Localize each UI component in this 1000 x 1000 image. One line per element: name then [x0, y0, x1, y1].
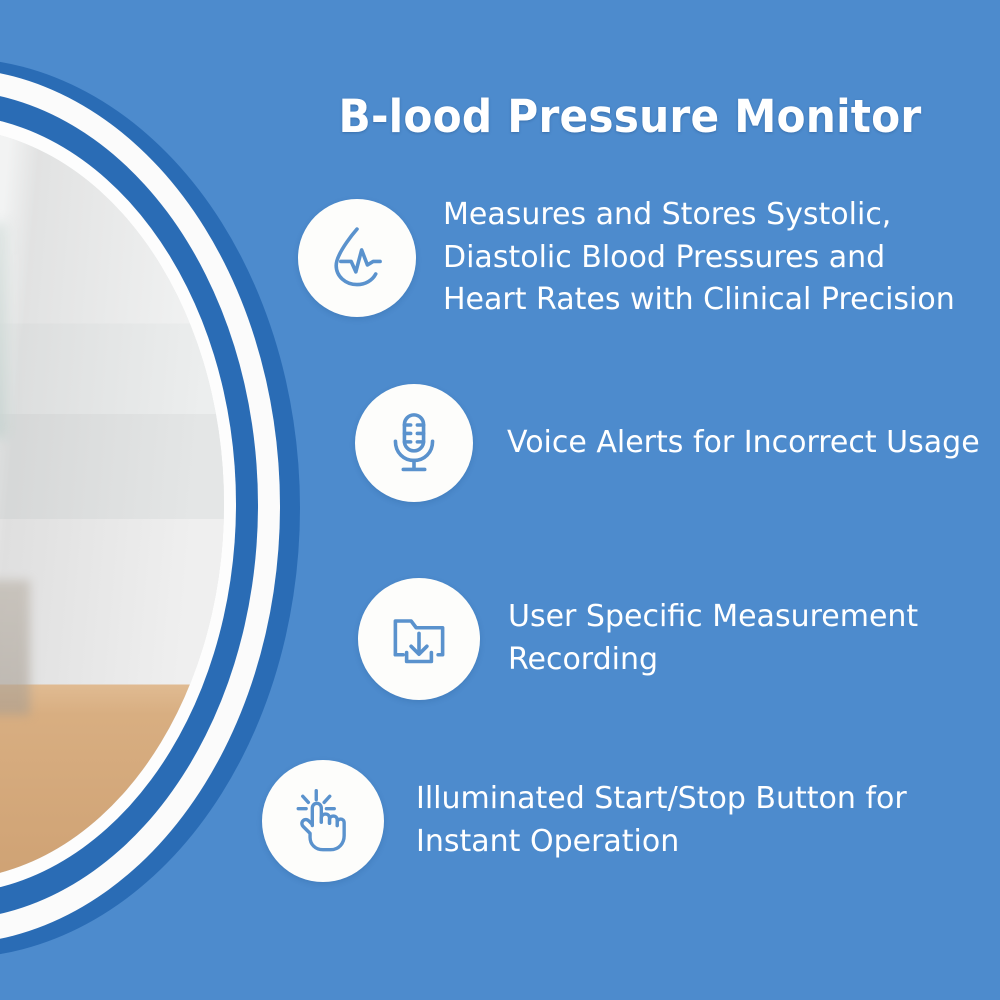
tap-hand-icon [262, 760, 384, 882]
feature-label: Measures and Stores Systolic, Diastolic … [443, 194, 968, 322]
blood-drop-pulse-icon [298, 199, 416, 317]
product-infographic-poster: B-lood Pressure Monitor Measures and Sto… [0, 0, 1000, 1000]
feature-list: Measures and Stores Systolic, Diastolic … [0, 0, 1000, 1000]
folder-download-icon [358, 578, 480, 700]
feature-label: Illuminated Start/Stop Button for Instan… [416, 778, 916, 863]
feature-item: User Specific Measurement Recording [358, 578, 978, 700]
feature-item: Voice Alerts for Incorrect Usage [355, 384, 1000, 502]
feature-label: User Specific Measurement Recording [508, 596, 978, 681]
feature-label: Voice Alerts for Incorrect Usage [507, 422, 1000, 465]
feature-item: Illuminated Start/Stop Button for Instan… [262, 760, 916, 882]
feature-item: Measures and Stores Systolic, Diastolic … [298, 194, 968, 322]
microphone-icon [355, 384, 473, 502]
